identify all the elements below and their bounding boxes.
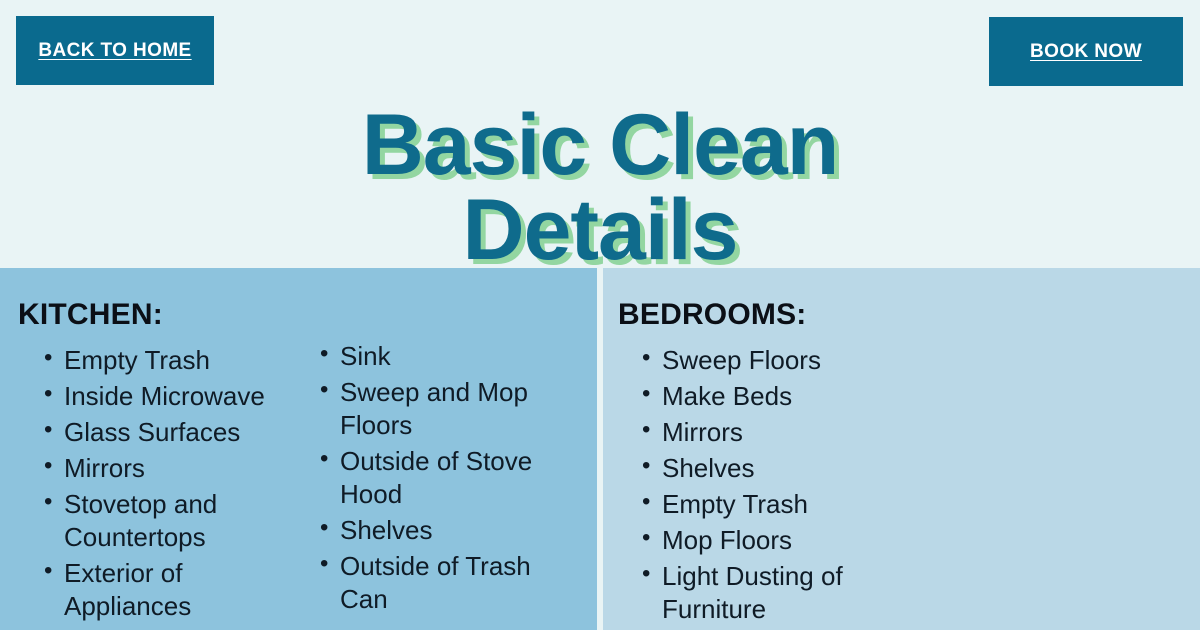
list-item: Light Dusting of Furniture [640,560,898,626]
kitchen-heading: KITCHEN: [18,298,163,332]
list-item: Empty Trash [640,488,898,521]
page-header: BACK TO HOME BOOK NOW Basic Clean Detail… [0,0,1200,268]
kitchen-list-column-2: Sink Sweep and Mop Floors Outside of Sto… [318,340,580,619]
list-item: Backsplash [42,626,292,630]
bedrooms-list: Sweep Floors Make Beds Mirrors Shelves E… [640,344,898,630]
list-item: Mop Floors [640,524,898,557]
list-item: Sink [318,340,580,373]
list-item: Outside of Stove Hood [318,445,580,511]
book-now-button[interactable]: BOOK NOW [989,17,1183,86]
list-item: Empty Trash [42,344,292,377]
list-item: Exterior of Appliances [42,557,292,623]
page-title-line-2: Details [0,188,1200,273]
kitchen-panel: KITCHEN: Empty Trash Inside Microwave Gl… [0,268,597,630]
details-panels: KITCHEN: Empty Trash Inside Microwave Gl… [0,268,1200,630]
page-title-line-1: Basic Clean [0,103,1200,188]
list-item: Glass Surfaces [42,416,292,449]
kitchen-list-column-1: Empty Trash Inside Microwave Glass Surfa… [42,344,292,630]
list-item: Inside Microwave [42,380,292,413]
list-item: Mirrors [42,452,292,485]
back-to-home-label: BACK TO HOME [38,40,191,62]
bedrooms-heading: BEDROOMS: [618,298,806,332]
list-item: Sweep Floors [640,344,898,377]
list-item: Stovetop and Countertops [42,488,292,554]
list-item: Outside of Trash Can [318,550,580,616]
bedrooms-panel: BEDROOMS: Sweep Floors Make Beds Mirrors… [603,268,1200,630]
page-title: Basic Clean Details [0,103,1200,273]
list-item: Mirrors [640,416,898,449]
list-item: Shelves [318,514,580,547]
back-to-home-button[interactable]: BACK TO HOME [16,16,214,85]
list-item: Shelves [640,452,898,485]
list-item: Make Beds [640,380,898,413]
book-now-label: BOOK NOW [1030,41,1142,63]
list-item: Sweep and Mop Floors [318,376,580,442]
